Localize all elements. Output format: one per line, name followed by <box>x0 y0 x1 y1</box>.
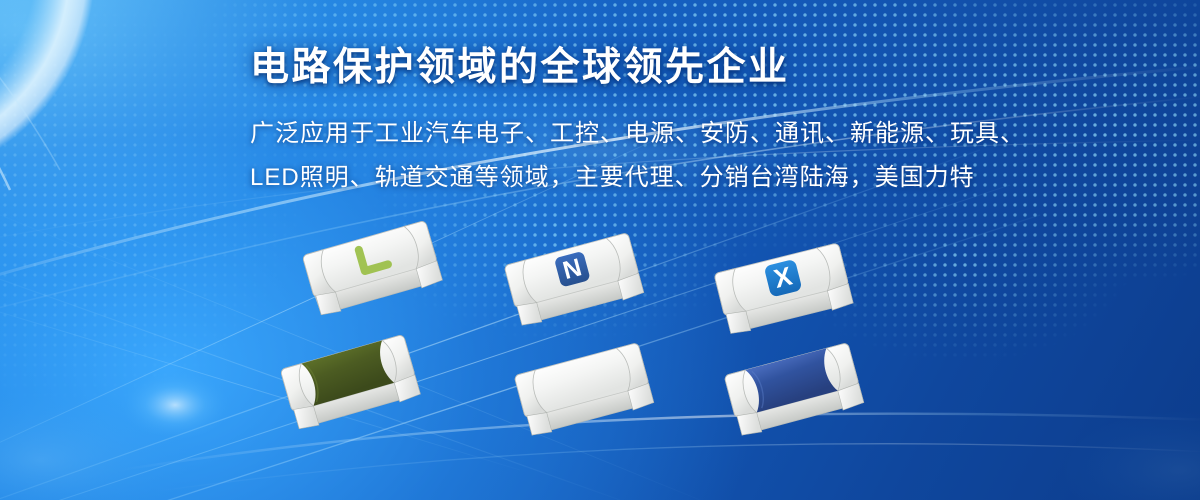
hero-banner: 电路保护领域的全球领先企业 广泛应用于工业汽车电子、工控、电源、安防、通讯、新能… <box>0 0 1200 500</box>
product-fuse-x: X <box>714 243 854 336</box>
product-fuse-l <box>302 220 443 317</box>
product-showcase: N X <box>0 0 1200 500</box>
product-fuse-plain <box>514 343 654 438</box>
product-fuse-n: N <box>504 233 644 328</box>
product-fuse-blue <box>724 343 864 438</box>
product-fuse-olive <box>280 334 421 431</box>
